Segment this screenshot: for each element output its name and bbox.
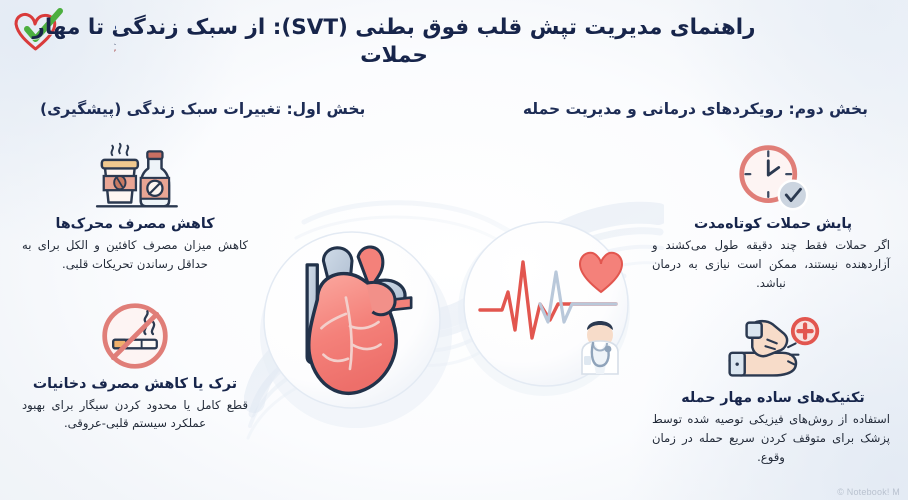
- center-illustration: [244, 152, 664, 452]
- card-body: کاهش میزان مصرف کافئین و الکل برای به حد…: [10, 236, 260, 274]
- page-title: راهنمای مدیریت تپش قلب فوق بطنی (SVT): ا…: [0, 14, 908, 71]
- column-lifestyle: کاهش مصرف محرک‌ها کاهش میزان مصرف کافئین…: [10, 140, 260, 449]
- watermark: © Notebook! M: [837, 487, 900, 497]
- card-title: تکنیک‌های ساده مهار حمله: [648, 390, 898, 406]
- card-short-episode-monitoring[interactable]: پایش حملات کوتاه‌مدت اگر حملات فقط چند د…: [648, 140, 898, 292]
- left-disc: [260, 232, 452, 428]
- card-vagal-maneuvers[interactable]: تکنیک‌های ساده مهار حمله استفاده از روش‌…: [648, 314, 898, 466]
- infographic-canvas: سلامت اول مرکز ارائه خدمات مراقبت‌های با…: [0, 0, 908, 500]
- section-heading-lifestyle: بخش اول: تغییرات سبک زندگی (پیشگیری): [40, 100, 365, 118]
- doctor-figure: [582, 321, 618, 374]
- card-title: کاهش مصرف محرک‌ها: [10, 216, 260, 232]
- vagal-maneuver-hand-icon: [648, 314, 898, 386]
- card-reduce-stimulants[interactable]: کاهش مصرف محرک‌ها کاهش میزان مصرف کافئین…: [10, 140, 260, 274]
- clock-check-icon: [648, 140, 898, 212]
- card-body: اگر حملات فقط چند دقیقه طول می‌کشند و آز…: [648, 236, 898, 292]
- card-body: قطع کامل یا محدود کردن سیگار برای بهبود …: [10, 396, 260, 434]
- no-smoking-icon: [10, 300, 260, 372]
- card-title: پایش حملات کوتاه‌مدت: [648, 216, 898, 232]
- right-disc: [458, 222, 630, 396]
- coffee-alcohol-restriction-icon: [10, 140, 260, 212]
- card-title: ترک یا کاهش مصرف دخانیات: [10, 376, 260, 392]
- column-treatment: پایش حملات کوتاه‌مدت اگر حملات فقط چند د…: [648, 140, 898, 483]
- card-body: استفاده از روش‌های فیزیکی توصیه شده توسط…: [648, 410, 898, 466]
- section-heading-treatment: بخش دوم: رویکردهای درمانی و مدیریت حمله: [523, 100, 868, 118]
- card-quit-smoking[interactable]: ترک یا کاهش مصرف دخانیات قطع کامل یا محد…: [10, 300, 260, 434]
